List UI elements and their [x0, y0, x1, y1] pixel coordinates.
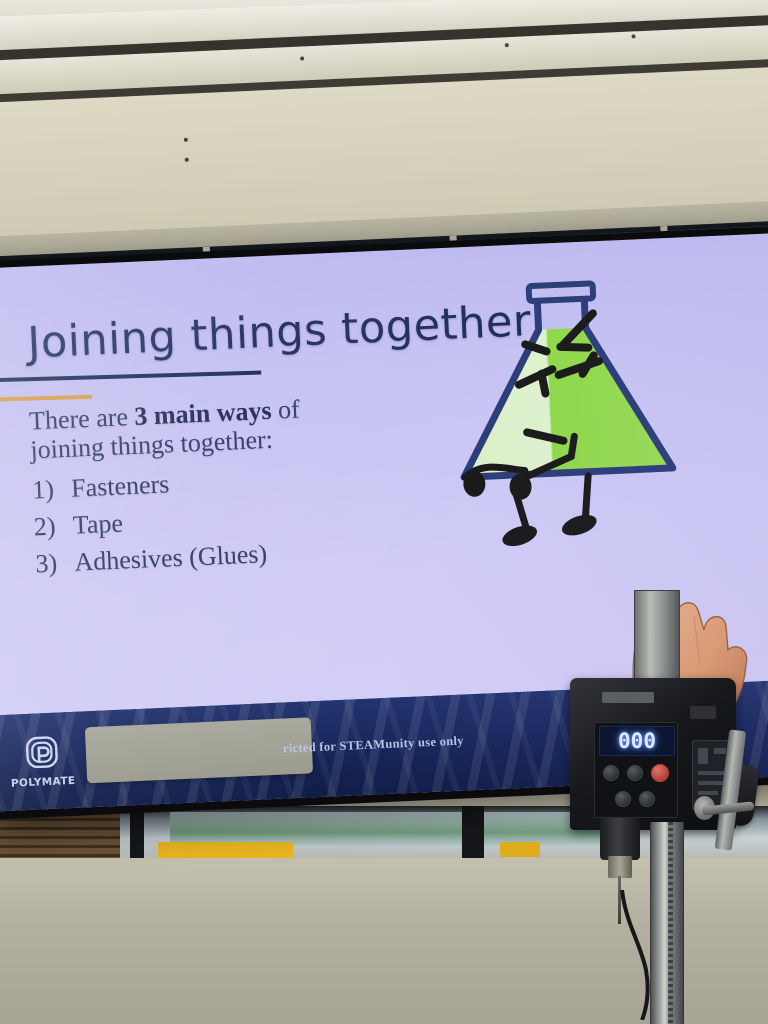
- drill-vent: [602, 692, 654, 703]
- yellow-floor-marker: [158, 842, 293, 860]
- drill-control-panel[interactable]: 000: [594, 722, 678, 818]
- redaction-box: [85, 717, 313, 783]
- drill-vent: [690, 706, 716, 719]
- support-pillar: [130, 806, 144, 862]
- drill-press-machine[interactable]: 000: [556, 590, 768, 1024]
- title-underline-orange: [0, 395, 92, 403]
- drill-chuck: [600, 818, 640, 860]
- mascot-foot: [559, 511, 599, 540]
- drill-button-2[interactable]: [627, 765, 643, 781]
- joining-methods-list: 1) Fasteners 2) Tape 3) Adhesives (Glues…: [31, 458, 366, 583]
- list-item-label: Adhesives (Glues): [74, 536, 268, 581]
- drill-button-1[interactable]: [603, 765, 619, 781]
- drill-button-3[interactable]: [615, 791, 631, 807]
- list-item-label: Fasteners: [70, 466, 170, 507]
- polymate-logo: POLYMATE: [5, 734, 79, 790]
- drill-chuck-jaws: [608, 856, 632, 878]
- stacked-boxes: [0, 812, 120, 862]
- beam-rivet: [300, 56, 304, 60]
- support-pillar: [462, 806, 484, 906]
- mascot-foot: [500, 522, 540, 551]
- beam-rivet: [631, 34, 635, 38]
- ceiling-slab: [0, 0, 768, 66]
- yellow-floor-marker: [500, 842, 540, 857]
- title-underline-navy: [0, 371, 261, 384]
- beam-rivet: [505, 43, 509, 47]
- list-item-number: 1): [31, 471, 59, 509]
- drill-stop-button[interactable]: [651, 764, 669, 782]
- flask-mascot-icon: [431, 245, 699, 556]
- list-item-label: Tape: [72, 505, 124, 544]
- intro-text-before: There are: [28, 402, 135, 436]
- list-item-number: 3): [35, 545, 63, 583]
- flask-mascot-illustration: [431, 245, 699, 556]
- drill-digital-display: 000: [599, 726, 675, 756]
- drill-power-cable: [616, 890, 736, 1020]
- drill-button-4[interactable]: [639, 791, 655, 807]
- corridor-window: [170, 812, 610, 846]
- list-item-number: 2): [33, 508, 61, 546]
- slide-intro-paragraph: There are 3 main ways of joining things …: [28, 392, 360, 465]
- polymate-spiral-p-icon: [24, 735, 59, 770]
- drill-display-value: 000: [618, 731, 656, 752]
- wall-rivet: [185, 158, 189, 162]
- ceiling-beam: [0, 22, 768, 98]
- ceiling-beam-edge: [0, 56, 768, 106]
- wall-rivet: [184, 138, 188, 142]
- ceiling-beam-shadow: [0, 12, 768, 67]
- ceiling-surface: [0, 0, 768, 40]
- slide-body: There are 3 main ways of joining things …: [28, 392, 366, 583]
- screenshot-root: Joining things together There are 3 main…: [0, 0, 768, 1024]
